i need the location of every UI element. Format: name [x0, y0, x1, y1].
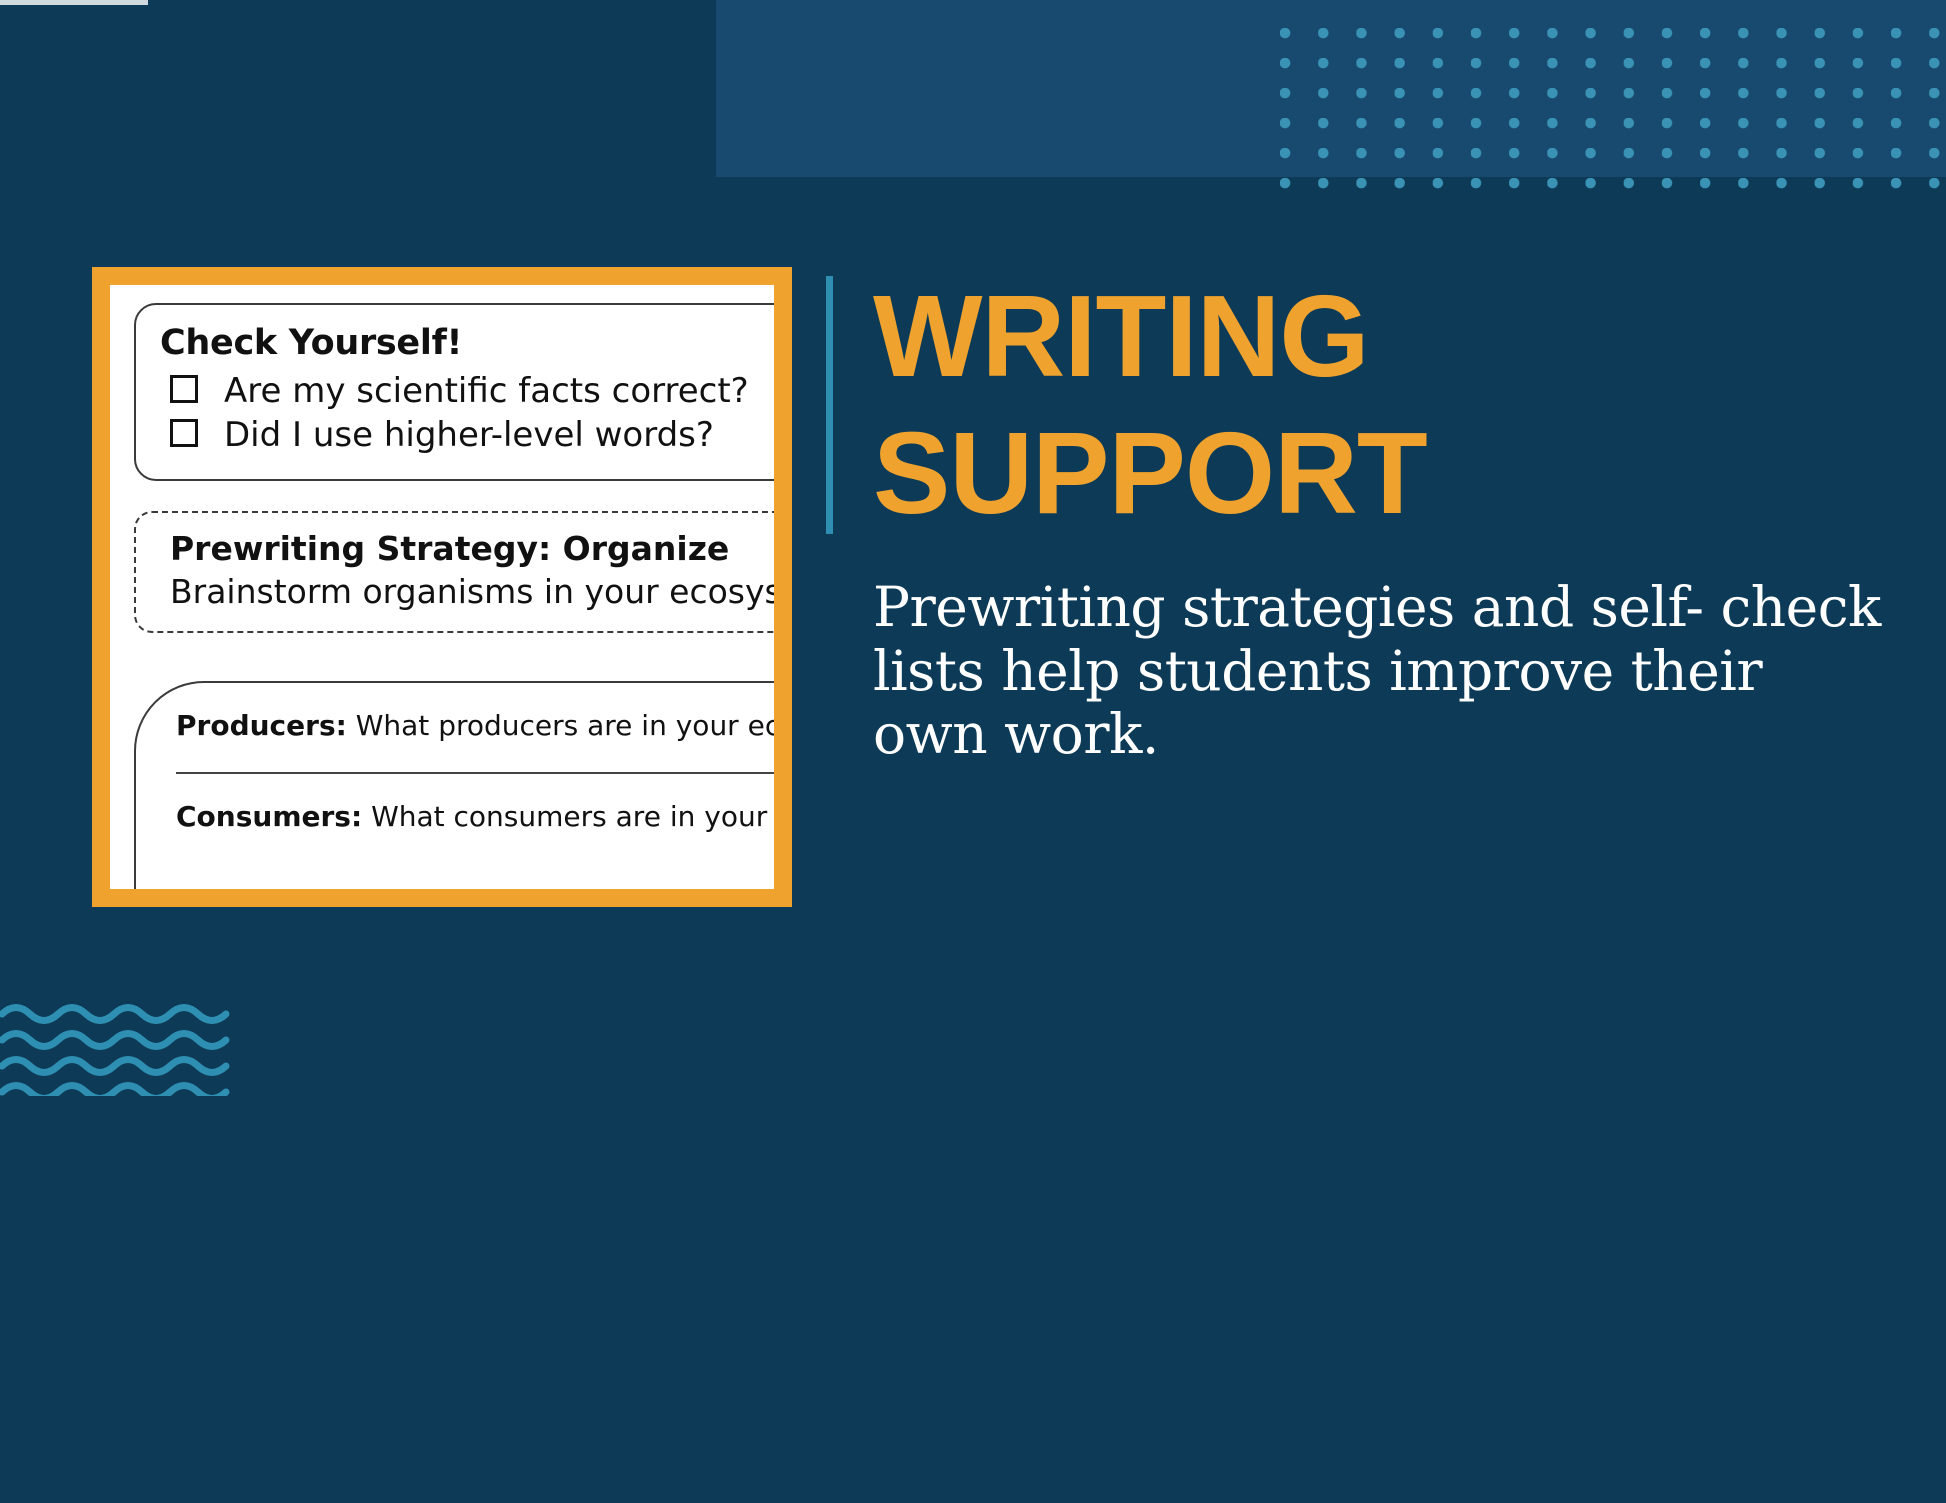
- organizer-row-prompt: What producers are in your ecosystem?: [356, 709, 774, 742]
- checkbox-icon[interactable]: [170, 375, 198, 403]
- page-title: WRITING SUPPORT: [873, 268, 1427, 542]
- wave-lines-pattern-icon: [0, 1000, 246, 1096]
- check-yourself-item: Did I use higher-level words?: [170, 413, 774, 457]
- check-yourself-item-label: Are my scientific facts correct?: [224, 369, 749, 413]
- prewriting-strategy-box: Prewriting Strategy: Organize Brainstorm…: [134, 511, 774, 633]
- organizer-row-label: Producers:: [176, 709, 347, 742]
- organizer-row-label: Consumers:: [176, 800, 362, 833]
- page-title-line-1: WRITING: [873, 271, 1369, 401]
- page-title-line-2: SUPPORT: [873, 408, 1427, 538]
- body-paragraph: Prewriting strategies and self- check li…: [873, 576, 1886, 767]
- check-yourself-item: Are my scientific facts correct?: [170, 369, 774, 413]
- organizer-row: Producers: What producers are in your ec…: [176, 709, 774, 742]
- top-edge-dots-icon: [0, 0, 760, 8]
- prewriting-strategy-text: Brainstorm organisms in your ecosystem.: [170, 572, 774, 611]
- worksheet-content: Check Yourself! Are my scientific facts …: [110, 285, 774, 889]
- checkbox-icon[interactable]: [170, 419, 198, 447]
- worksheet-image-frame: Check Yourself! Are my scientific facts …: [110, 285, 774, 889]
- accent-bar: [826, 276, 833, 534]
- text-column: WRITING SUPPORT Prewriting strategies an…: [826, 268, 1886, 767]
- check-yourself-title: Check Yourself!: [160, 323, 774, 363]
- check-yourself-box: Check Yourself! Are my scientific facts …: [134, 303, 774, 481]
- worksheet-image-card: Check Yourself! Are my scientific facts …: [92, 267, 792, 907]
- check-yourself-item-label: Did I use higher-level words?: [224, 413, 714, 457]
- organizer-write-line: [176, 772, 774, 774]
- prewriting-strategy-title: Prewriting Strategy: Organize: [170, 529, 774, 568]
- organizer-box: Producers: What producers are in your ec…: [134, 681, 774, 889]
- dot-grid-pattern-icon: [1280, 28, 1946, 203]
- headline-block: WRITING SUPPORT: [826, 268, 1886, 542]
- top-edge-sliver: [0, 0, 760, 9]
- organizer-row-prompt: What consumers are in your ecosystem?: [371, 800, 774, 833]
- organizer-row: Consumers: What consumers are in your ec…: [176, 800, 774, 833]
